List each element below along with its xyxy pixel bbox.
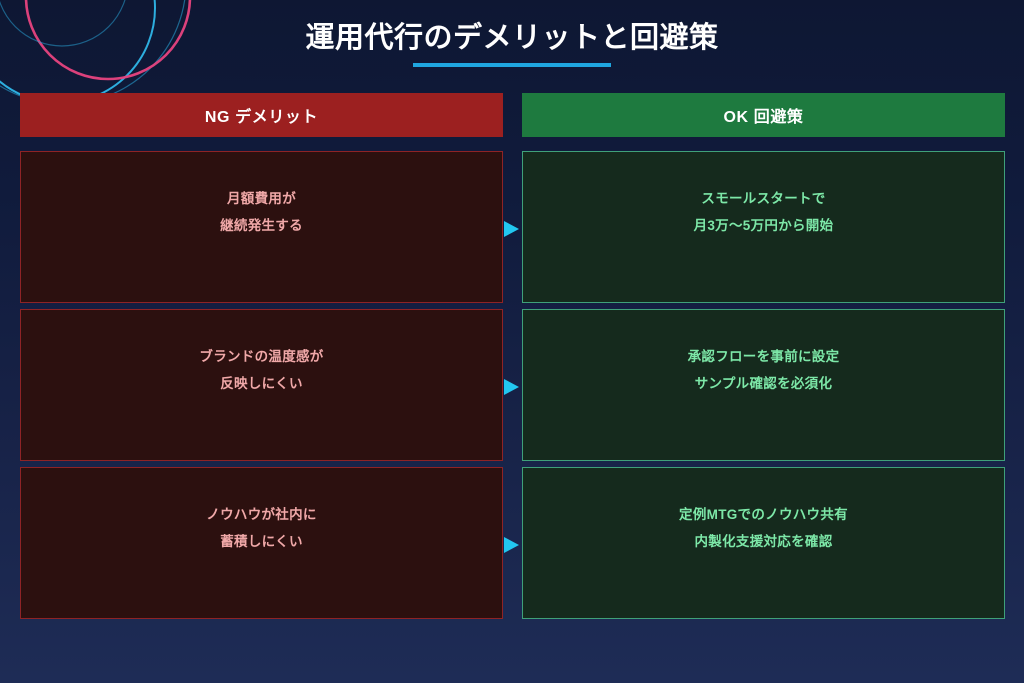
- problem-card-2-line2: 反映しにくい: [220, 377, 303, 391]
- solution-card-3-line1: 定例MTGでのノウハウ共有: [679, 508, 848, 522]
- solution-card-2[interactable]: 承認フローを事前に設定 サンプル確認を必須化: [522, 309, 1005, 461]
- header-row: NG デメリット OK 回避策: [20, 93, 1005, 137]
- comparison-board: NG デメリット OK 回避策 月額費用が 継続発生する スモールスタートで: [20, 93, 1005, 625]
- problem-card-1-line1: 月額費用が: [227, 192, 296, 206]
- problem-card-3-line2: 蓄積しにくい: [220, 535, 303, 549]
- problem-card-2-line1: ブランドの温度感が: [199, 350, 323, 364]
- problem-card-3[interactable]: ノウハウが社内に 蓄積しにくい: [20, 467, 503, 619]
- triangle-right-icon: [501, 219, 521, 239]
- triangle-right-icon: [501, 535, 521, 555]
- solution-card-1[interactable]: スモールスタートで 月3万〜5万円から開始: [522, 151, 1005, 303]
- connector-cell-3: [503, 467, 522, 625]
- solution-card-3-line2: 内製化支援対応を確認: [695, 535, 833, 549]
- triangle-right-icon: [501, 377, 521, 397]
- solution-card-2-line1: 承認フローを事前に設定: [688, 350, 840, 364]
- connector-cell-1: [503, 151, 522, 309]
- comparison-row-2: ブランドの温度感が 反映しにくい 承認フローを事前に設定 サンプル確認を必須化: [20, 309, 1005, 467]
- solution-card-1-line2: 月3万〜5万円から開始: [694, 219, 834, 233]
- header-gap: [503, 93, 522, 137]
- problem-card-3-line1: ノウハウが社内に: [206, 508, 316, 522]
- solution-card-1-line1: スモールスタートで: [701, 192, 825, 206]
- problem-card-2[interactable]: ブランドの温度感が 反映しにくい: [20, 309, 503, 461]
- title-block: 運用代行のデメリットと回避策: [0, 20, 1024, 67]
- comparison-row-3: ノウハウが社内に 蓄積しにくい 定例MTGでのノウハウ共有 内製化支援対応を確認: [20, 467, 1005, 625]
- solution-card-2-line2: サンプル確認を必須化: [695, 377, 833, 391]
- column-header-ok: OK 回避策: [522, 93, 1005, 137]
- column-header-ng: NG デメリット: [20, 93, 503, 137]
- comparison-row-1: 月額費用が 継続発生する スモールスタートで 月3万〜5万円から開始: [20, 151, 1005, 309]
- connector-cell-2: [503, 309, 522, 467]
- problem-card-1[interactable]: 月額費用が 継続発生する: [20, 151, 503, 303]
- title-underline: [413, 63, 611, 67]
- page-title: 運用代行のデメリットと回避策: [0, 20, 1024, 56]
- problem-card-1-line2: 継続発生する: [220, 219, 303, 233]
- solution-card-3[interactable]: 定例MTGでのノウハウ共有 内製化支援対応を確認: [522, 467, 1005, 619]
